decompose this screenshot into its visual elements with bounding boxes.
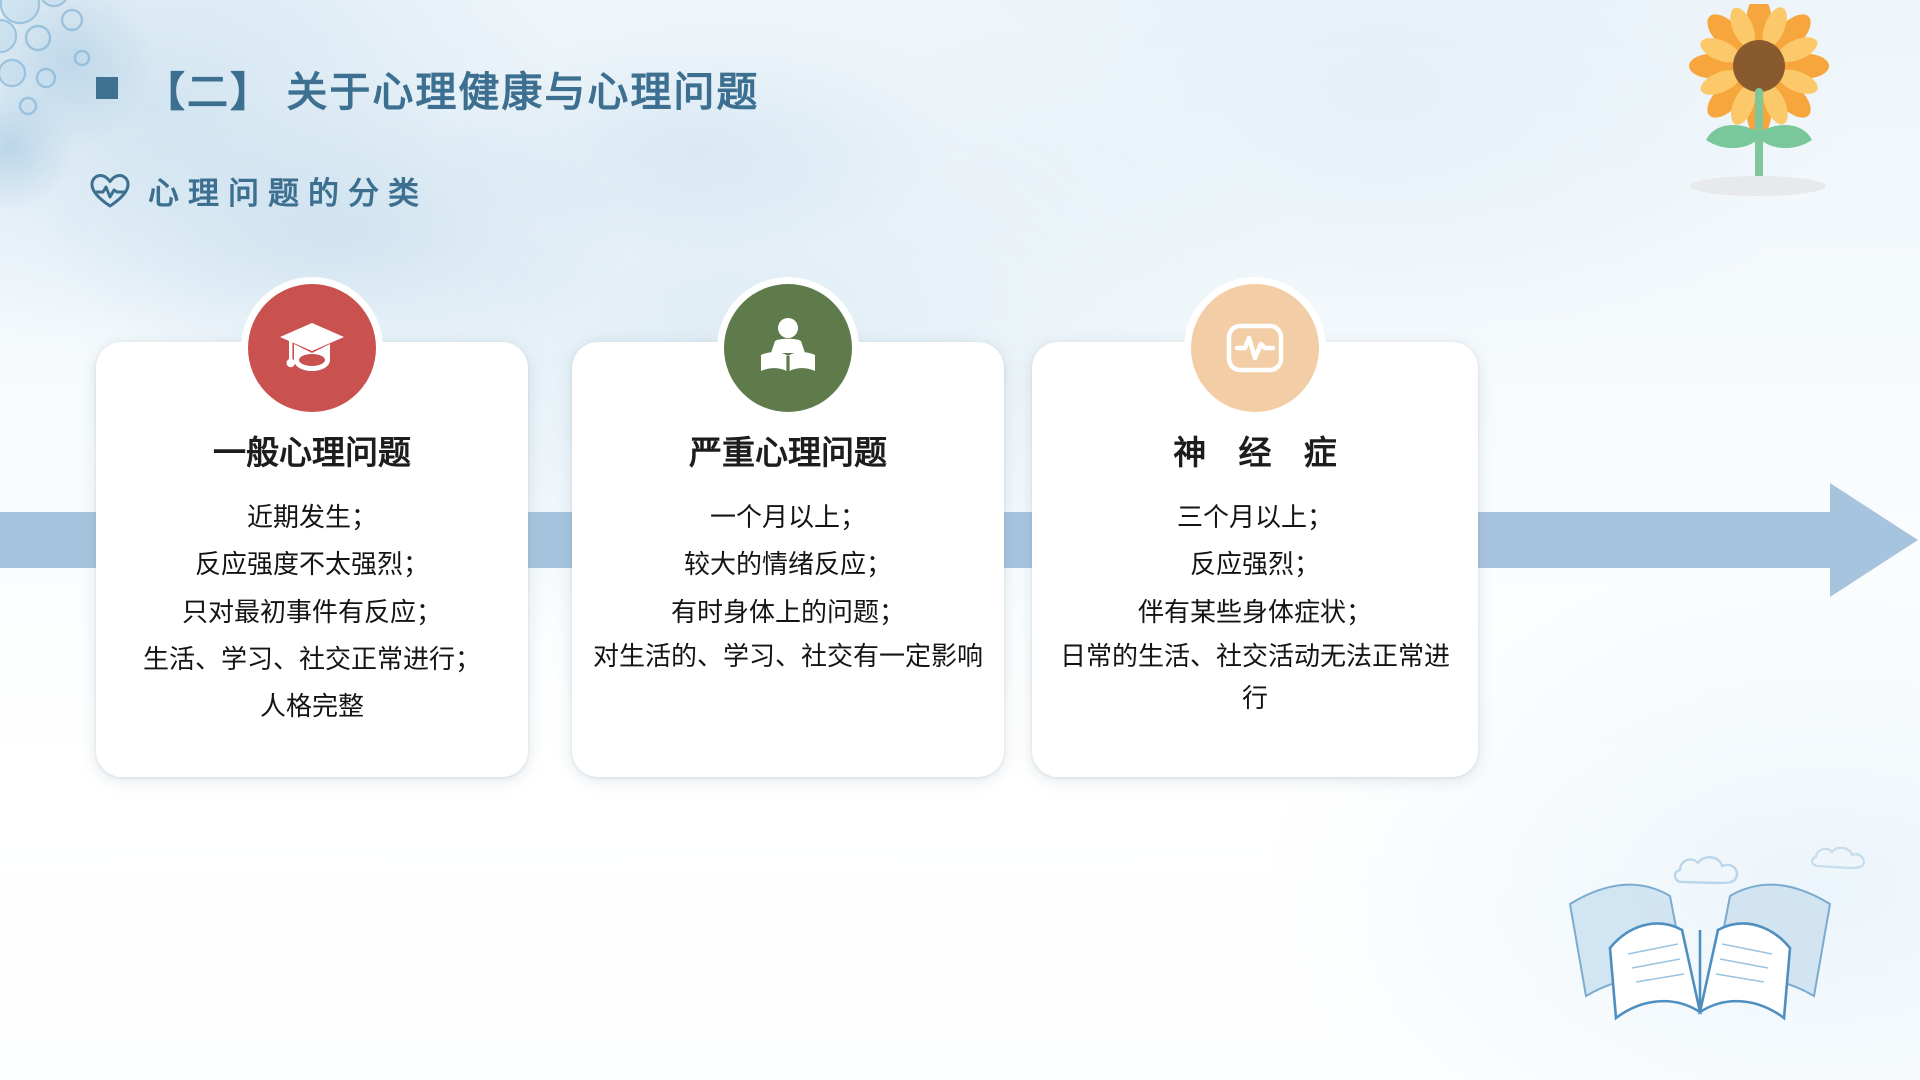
card-line: 近期发生； bbox=[112, 494, 512, 541]
card-title: 严重心理问题 bbox=[572, 426, 1004, 474]
person-reading-badge bbox=[724, 284, 852, 412]
card-line: 反应强烈； bbox=[1048, 541, 1462, 588]
person-reading-icon bbox=[753, 313, 823, 383]
pulse-monitor-badge bbox=[1191, 284, 1319, 412]
category-card-severe[interactable]: 严重心理问题 一个月以上； 较大的情绪反应； 有时身体上的问题； 对生活的、学习… bbox=[572, 342, 1004, 777]
graduation-cap-icon bbox=[276, 315, 348, 381]
category-card-neurosis[interactable]: 神 经 症 三个月以上； 反应强烈； 伴有某些身体症状； 日常的生活、社交活动无… bbox=[1032, 342, 1478, 777]
card-line: 人格完整 bbox=[112, 683, 512, 730]
card-line: 一个月以上； bbox=[588, 494, 988, 541]
card-line: 日常的生活、社交活动无法正常进行 bbox=[1048, 636, 1462, 720]
card-title: 一般心理问题 bbox=[96, 426, 528, 474]
card-line: 三个月以上； bbox=[1048, 494, 1462, 541]
sunflower-shadow bbox=[1690, 176, 1826, 196]
card-line: 有时身体上的问题； bbox=[588, 589, 988, 636]
card-line: 反应强度不太强烈； bbox=[112, 541, 512, 588]
card-line: 对生活的、学习、社交有一定影响 bbox=[588, 636, 988, 678]
card-title: 神 经 症 bbox=[1032, 426, 1478, 474]
card-line: 伴有某些身体症状； bbox=[1048, 589, 1462, 636]
graduation-cap-badge bbox=[248, 284, 376, 412]
pulse-monitor-icon bbox=[1220, 313, 1290, 383]
card-line: 生活、学习、社交正常进行； bbox=[112, 636, 512, 683]
card-body: 三个月以上； 反应强烈； 伴有某些身体症状； 日常的生活、社交活动无法正常进行 bbox=[1048, 494, 1462, 720]
card-body: 一个月以上； 较大的情绪反应； 有时身体上的问题； 对生活的、学习、社交有一定影… bbox=[588, 494, 988, 678]
card-line: 只对最初事件有反应； bbox=[112, 589, 512, 636]
open-book-icon bbox=[1510, 812, 1890, 1062]
card-line: 较大的情绪反应； bbox=[588, 541, 988, 588]
card-body: 近期发生； 反应强度不太强烈； 只对最初事件有反应； 生活、学习、社交正常进行；… bbox=[112, 494, 512, 731]
category-card-general[interactable]: 一般心理问题 近期发生； 反应强度不太强烈； 只对最初事件有反应； 生活、学习、… bbox=[96, 342, 528, 777]
